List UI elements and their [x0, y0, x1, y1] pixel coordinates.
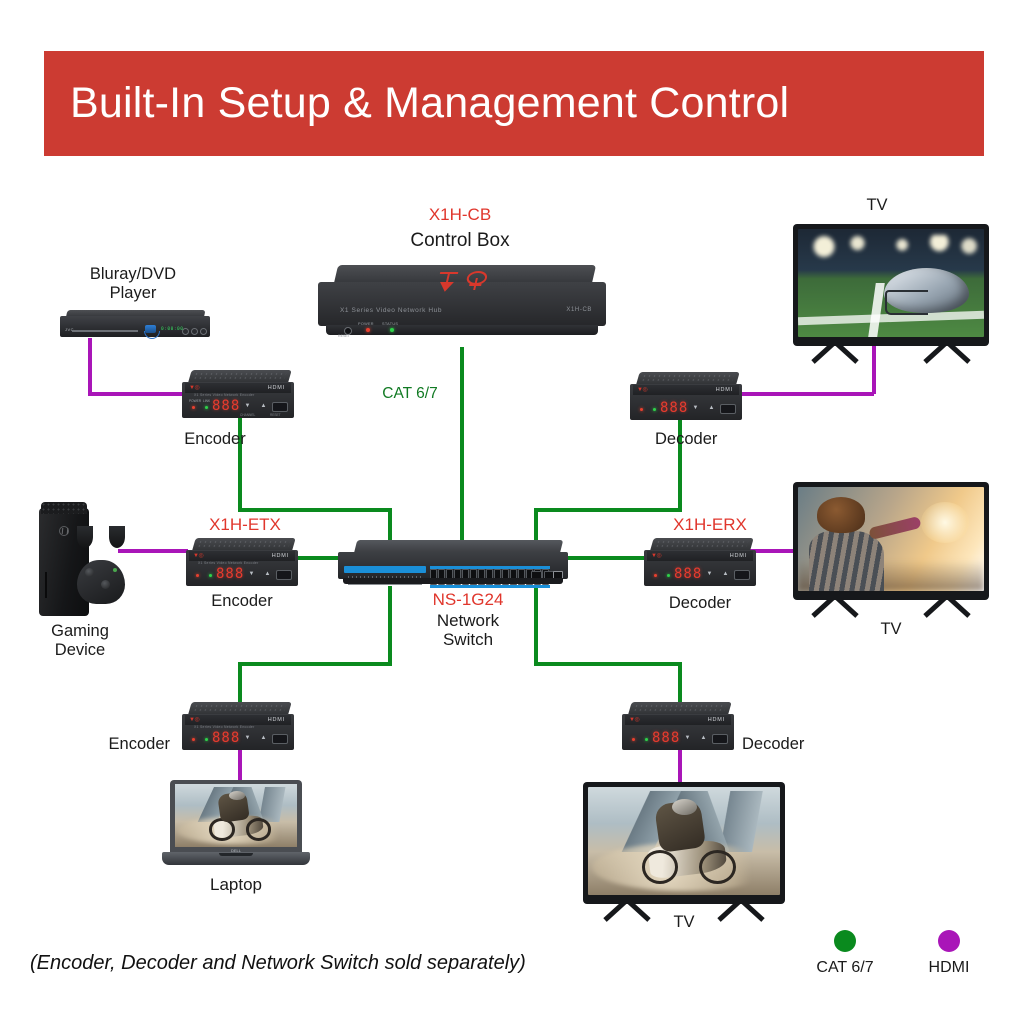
encoder-power-led	[192, 406, 195, 409]
encoder-brand-icon: ▼◎	[189, 384, 199, 391]
encoder-bottom-face: ▼◎ HDMI X1 Series Video Network Encoder …	[182, 714, 294, 750]
encoder-up-button[interactable]: ▲	[264, 571, 271, 578]
bluray-button-3[interactable]	[200, 328, 207, 335]
bluray-disc-tray[interactable]	[72, 330, 138, 332]
controller-grip-left	[77, 526, 93, 548]
control-box-model: X1H-CB	[360, 205, 560, 225]
decoder-rj45-port[interactable]	[720, 404, 736, 414]
control-box-front-text: X1 Series Video Network Hub	[340, 307, 442, 314]
encoder-segment-display: 888	[212, 730, 240, 746]
cable-cat-encoder-bottom-h	[238, 662, 392, 666]
legend-label-cat: CAT 6/7	[800, 959, 890, 977]
tv-leg-left-icon	[811, 342, 859, 364]
encoder-link-led	[205, 406, 208, 409]
encoder-hdmi-label: HDMI	[268, 717, 285, 723]
cable-cat-decoder-top-h	[534, 508, 682, 512]
device-control-box[interactable]: X1 Series Video Network Hub X1H-CB RESET…	[318, 265, 606, 347]
controller-grip-right	[109, 526, 125, 548]
controller-stick-left[interactable]	[85, 568, 94, 577]
tv-mid-label: TV	[846, 620, 936, 639]
bluray-display: 0:00:00	[161, 327, 183, 332]
switch-blue-bar	[344, 566, 426, 573]
controller-action-button[interactable]	[113, 568, 117, 572]
decoder-down-button[interactable]: ▼	[684, 735, 691, 742]
cable-hdmi-gaming	[118, 549, 188, 553]
decoder-link-led	[667, 574, 670, 577]
bluray-accent-arc	[144, 331, 160, 339]
device-tv-top[interactable]	[793, 224, 989, 346]
decoder-down-button[interactable]: ▼	[706, 571, 713, 578]
cable-cat-decoder-bottom-rise	[534, 586, 538, 664]
decoder-top-face: ▼◎ HDMI 888 ▼ ▲	[630, 384, 742, 420]
device-bluray-player[interactable]: JVC 0:00:00	[60, 310, 210, 340]
bluray-button-1[interactable]	[182, 328, 189, 335]
device-decoder-top[interactable]: ▼◎ HDMI 888 ▼ ▲	[630, 372, 742, 420]
decoder-brand-icon: ▼◎	[637, 386, 647, 393]
cable-hdmi-bluray-v	[88, 338, 92, 394]
decoder-segment-display: 888	[660, 400, 688, 416]
device-gaming-console[interactable]	[33, 500, 125, 620]
power-led-label: POWER	[358, 322, 374, 326]
encoder-micro-text: X1 Series Video Network Encoder	[194, 393, 255, 397]
tv-screen-woman	[798, 487, 984, 591]
encoder-rj45-port[interactable]	[272, 734, 288, 744]
encoder-mid-label: Encoder	[182, 592, 302, 611]
encoder-power-led	[196, 574, 199, 577]
encoder-power-label: POWER	[189, 399, 201, 403]
console-power-icon[interactable]	[59, 526, 69, 536]
footnote-text: (Encoder, Decoder and Network Switch sol…	[30, 952, 526, 975]
encoder-reset-label: RESET	[270, 413, 281, 417]
decoder-down-button[interactable]: ▼	[692, 405, 699, 412]
cable-cat-encoder-bottom-rise	[388, 586, 392, 664]
brand-logo-icon	[431, 269, 497, 295]
encoder-bottom-label: Encoder	[30, 735, 170, 754]
laptop-notch	[219, 853, 253, 856]
diagram-canvas: Built-In Setup & Management Control X1H-…	[0, 0, 1024, 1024]
tv-screen-football	[798, 229, 984, 337]
device-decoder-bottom[interactable]: ▼◎ HDMI 888 ▼ ▲	[622, 702, 734, 750]
console-tower	[39, 508, 89, 616]
encoder-down-button[interactable]: ▼	[248, 571, 255, 578]
encoder-brand-icon: ▼◎	[193, 552, 203, 559]
control-box-side-model: X1H-CB	[566, 307, 592, 313]
cable-hdmi-tv-top-v	[872, 340, 876, 394]
console-disc-slot	[45, 572, 47, 598]
status-led-label: STATUS	[382, 322, 398, 326]
cable-cat-controlbox-switch	[460, 347, 464, 545]
header-banner: Built-In Setup & Management Control	[44, 51, 984, 156]
device-encoder-bottom[interactable]: ▼◎ HDMI X1 Series Video Network Encoder …	[182, 702, 294, 750]
bluray-button-2[interactable]	[191, 328, 198, 335]
decoder-power-led	[654, 574, 657, 577]
bluray-front-face: JVC 0:00:00	[60, 316, 210, 337]
legend-item-cat: CAT 6/7	[800, 930, 890, 977]
cat-cable-label: CAT 6/7	[355, 385, 465, 403]
cat-color-dot-icon	[834, 930, 856, 952]
decoder-up-button[interactable]: ▲	[708, 405, 715, 412]
device-network-switch[interactable]	[338, 540, 568, 586]
encoder-top-label: Encoder	[155, 430, 275, 449]
control-box-name: Control Box	[360, 231, 560, 250]
tv-leg-left-icon	[811, 596, 859, 618]
switch-base	[343, 578, 563, 584]
encoder-power-led	[192, 738, 195, 741]
banner-title: Built-In Setup & Management Control	[44, 79, 789, 128]
encoder-segment-display: 888	[212, 398, 240, 414]
encoder-brand-icon: ▼◎	[189, 716, 199, 723]
decoder-power-led	[632, 738, 635, 741]
tv-top-label: TV	[832, 196, 922, 215]
tv-leg-right-icon	[923, 596, 971, 618]
encoder-micro-text: X1 Series Video Network Encoder	[194, 725, 255, 729]
decoder-brand-icon: ▼◎	[629, 716, 639, 723]
encoder-top-face: ▼◎ HDMI X1 Series Video Network Encoder …	[182, 382, 294, 418]
cable-hdmi-tv-bottom	[678, 748, 682, 782]
encoder-mid-model: X1H-ETX	[185, 515, 305, 535]
cable-cat-encoder-top-h	[238, 508, 392, 512]
decoder-bottom-face: ▼◎ HDMI 888 ▼ ▲	[622, 714, 734, 750]
device-tv-bottom[interactable]	[583, 782, 785, 904]
decoder-hdmi-label: HDMI	[730, 553, 747, 559]
logo-glyph-icon	[431, 269, 497, 295]
decoder-hdmi-label: HDMI	[708, 717, 725, 723]
encoder-mid-face: ▼◎ HDMI X1 Series Video Network Encoder …	[186, 550, 298, 586]
decoder-hdmi-label: HDMI	[716, 387, 733, 393]
network-switch-model: NS-1G24	[403, 590, 533, 610]
encoder-hdmi-label: HDMI	[272, 553, 289, 559]
cable-hdmi-tv-top-h	[740, 392, 874, 396]
encoder-segment-display: 888	[216, 566, 244, 582]
switch-blue-strip-bottom	[430, 585, 550, 588]
decoder-mid-face: ▼◎ HDMI 888 ▼ ▲	[644, 550, 756, 586]
decoder-rj45-port[interactable]	[734, 570, 750, 580]
encoder-up-button[interactable]: ▲	[260, 735, 267, 742]
reset-label: RESET	[338, 334, 350, 338]
status-led	[390, 328, 394, 332]
encoder-down-button[interactable]: ▼	[244, 403, 251, 410]
decoder-power-led	[640, 408, 643, 411]
encoder-link-led	[205, 738, 208, 741]
decoder-up-button[interactable]: ▲	[700, 735, 707, 742]
cable-cat-decoder-bottom-h	[534, 662, 682, 666]
decoder-link-led	[653, 408, 656, 411]
decoder-mid-model: X1H-ERX	[640, 515, 780, 535]
encoder-channel-label: CHANNEL	[240, 413, 255, 417]
device-decoder-mid[interactable]: ▼◎ HDMI 888 ▼ ▲	[644, 538, 756, 586]
legend-item-hdmi: HDMI	[904, 930, 994, 977]
cable-cat-decoder-mid	[566, 556, 646, 560]
hdmi-color-dot-icon	[938, 930, 960, 952]
legend-label-hdmi: HDMI	[904, 959, 994, 977]
encoder-down-button[interactable]: ▼	[244, 735, 251, 742]
encoder-hdmi-label: HDMI	[268, 385, 285, 391]
controller-stick-right[interactable]	[101, 580, 110, 589]
decoder-up-button[interactable]: ▲	[722, 571, 729, 578]
laptop-screen-motocross	[175, 784, 297, 847]
encoder-rj45-port[interactable]	[272, 402, 288, 412]
switch-front-face	[338, 552, 568, 579]
device-encoder-mid[interactable]: ▼◎ HDMI X1 Series Video Network Encoder …	[186, 538, 298, 586]
bluray-label: Bluray/DVD Player	[38, 265, 228, 303]
encoder-up-button[interactable]: ▲	[260, 403, 267, 410]
laptop-lid: DELL	[170, 780, 302, 854]
device-laptop[interactable]: DELL	[162, 780, 310, 872]
decoder-brand-icon: ▼◎	[651, 552, 661, 559]
encoder-rj45-port[interactable]	[276, 570, 292, 580]
encoder-micro-text: X1 Series Video Network Encoder	[198, 561, 259, 565]
decoder-rj45-port[interactable]	[712, 734, 728, 744]
tv-leg-right-icon	[923, 342, 971, 364]
encoder-link-led	[209, 574, 212, 577]
cable-hdmi-bluray-h	[88, 392, 184, 396]
tv-screen-motocross	[588, 787, 780, 895]
gaming-label: Gaming Device	[10, 622, 150, 660]
encoder-link-label: LINK	[203, 399, 210, 403]
decoder-segment-display: 888	[674, 566, 702, 582]
decoder-link-led	[645, 738, 648, 741]
network-switch-name: Network Switch	[403, 611, 533, 649]
laptop-label: Laptop	[176, 875, 296, 894]
legend: CAT 6/7 HDMI	[800, 930, 1000, 1000]
decoder-bottom-label: Decoder	[742, 735, 862, 754]
tv-bottom-label: TV	[639, 913, 729, 932]
console-top-vent	[41, 502, 87, 514]
decoder-segment-display: 888	[652, 730, 680, 746]
device-encoder-top[interactable]: ▼◎ HDMI X1 Series Video Network Encoder …	[182, 370, 294, 418]
decoder-top-label: Decoder	[655, 430, 845, 449]
power-led	[366, 328, 370, 332]
decoder-mid-label: Decoder	[640, 594, 760, 613]
device-tv-mid[interactable]	[793, 482, 989, 600]
